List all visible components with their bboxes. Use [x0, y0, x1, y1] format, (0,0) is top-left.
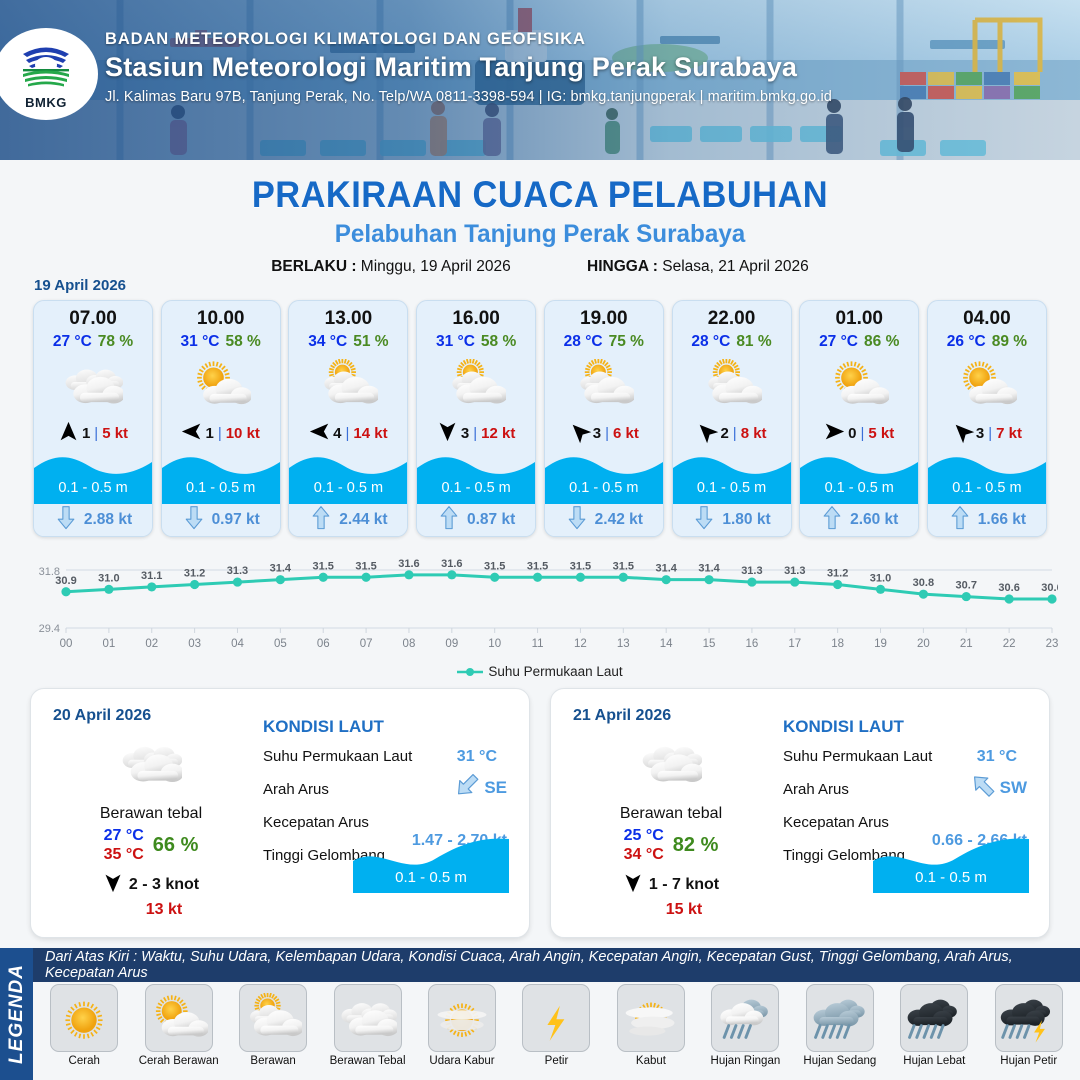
sea-key-current-dir: Arah Arus — [783, 781, 849, 798]
current-direction-text: SE — [484, 778, 507, 798]
hourly-card[interactable]: 01.00 27 °C86 % — [799, 300, 919, 537]
current-speed: 2.42 kt — [595, 511, 643, 529]
wind-gust: 7 kt — [996, 425, 1022, 442]
wind-separator: | — [473, 425, 477, 442]
weather-icon-cerah-berawan — [162, 354, 280, 416]
panel-temps: 27 °C 35 °C — [104, 827, 144, 865]
svg-text:31.4: 31.4 — [270, 563, 292, 575]
card-time: 10.00 — [162, 301, 280, 330]
sea-value-current-dir: SW — [970, 776, 1027, 800]
svg-text:08: 08 — [403, 638, 416, 650]
current-speed: 2.88 kt — [84, 511, 132, 529]
card-time: 01.00 — [800, 301, 918, 330]
svg-text:10: 10 — [488, 638, 501, 650]
svg-text:12: 12 — [574, 638, 587, 650]
legend-icon-hujan-sedang — [806, 984, 874, 1052]
wind-speed: 1 — [205, 425, 213, 442]
card-humidity: 75 % — [609, 333, 644, 350]
station-contact: Jl. Kalimas Baru 97B, Tanjung Perak, No.… — [105, 89, 832, 105]
bmkg-logo-mark — [15, 38, 77, 94]
legend-note: Dari Atas Kiri : Waktu, Suhu Udara, Kele… — [45, 949, 1080, 981]
legend-icon-kabut — [617, 984, 685, 1052]
svg-text:30.6: 30.6 — [1041, 582, 1058, 594]
panel-wind-gust: 13 kt — [77, 901, 251, 919]
svg-text:06: 06 — [317, 638, 330, 650]
current-direction-icon — [820, 509, 844, 531]
berlaku-group: BERLAKU : Minggu, 19 April 2026 — [271, 258, 511, 276]
wind-direction-icon — [824, 421, 845, 446]
sea-value-current-dir: SE — [454, 776, 507, 800]
card-temperature: 34 °C — [308, 333, 347, 350]
legend-label: Suhu Permukaan Laut — [488, 664, 622, 679]
wave-height: 0.1 - 0.5 m — [545, 480, 663, 496]
current-direction-icon — [565, 509, 589, 531]
svg-text:30.9: 30.9 — [55, 575, 76, 587]
legend-item-label: Cerah — [40, 1055, 128, 1067]
legend-icon-udara-kabur — [428, 984, 496, 1052]
wind-gust: 12 kt — [481, 425, 515, 442]
sea-row-sst: Suhu Permukaan Laut 31 °C — [783, 748, 1035, 770]
wind-separator: | — [988, 425, 992, 442]
hourly-card[interactable]: 04.00 26 °C89 % — [927, 300, 1047, 537]
card-current-row: 2.42 kt — [545, 504, 663, 536]
card-time: 13.00 — [289, 301, 407, 330]
legend-item: Berawan Tebal — [324, 984, 412, 1080]
weather-icon-berawan — [545, 354, 663, 416]
panel-humidity: 66 % — [153, 834, 199, 857]
legend-icon-petir — [522, 984, 590, 1052]
svg-text:11: 11 — [532, 638, 544, 650]
sea-row-current-speed: Kecepatan Arus 0.66 - 2.66 kt — [783, 814, 1035, 836]
card-wave-block: 0.1 - 0.5 m — [162, 450, 280, 504]
svg-text:18: 18 — [831, 638, 844, 650]
hourly-card[interactable]: 22.00 28 °C81 % — [672, 300, 792, 537]
panel-temp-min: 27 °C — [104, 827, 144, 846]
panel-temp-humidity: 27 °C 35 °C 66 % — [51, 827, 251, 865]
page-subtitle: Pelabuhan Tanjung Perak Surabaya — [16, 220, 1064, 249]
wind-speed: 3 — [593, 425, 601, 442]
legend-section: LEGENDA Dari Atas Kiri : Waktu, Suhu Uda… — [0, 948, 1080, 1080]
sst-chart-legend: Suhu Permukaan Laut — [0, 664, 1080, 679]
card-temperature: 31 °C — [436, 333, 475, 350]
legend-item-label: Hujan Sedang — [796, 1055, 884, 1067]
sea-value-sst: 31 °C — [457, 748, 497, 766]
panel-condition: Berawan tebal — [571, 805, 771, 823]
card-time: 07.00 — [34, 301, 152, 330]
card-humidity: 58 % — [226, 333, 261, 350]
card-temp-humidity: 27 °C78 % — [34, 333, 152, 351]
svg-text:03: 03 — [188, 638, 201, 650]
panel-condition: Berawan tebal — [51, 805, 251, 823]
sea-conditions-heading: KONDISI LAUT — [783, 717, 1035, 737]
sea-key-sst: Suhu Permukaan Laut — [263, 748, 412, 765]
legend-item: Petir — [512, 984, 600, 1080]
sea-value-sst: 31 °C — [977, 748, 1017, 766]
legend-item-label: Hujan Petir — [985, 1055, 1073, 1067]
svg-text:31.5: 31.5 — [313, 560, 334, 572]
wind-speed: 1 — [82, 425, 90, 442]
card-wind-row: 3 | 12 kt — [417, 416, 535, 450]
wind-separator: | — [94, 425, 98, 442]
svg-text:01: 01 — [102, 638, 115, 650]
wind-separator: | — [346, 425, 350, 442]
wind-speed: 3 — [976, 425, 984, 442]
hourly-card[interactable]: 16.00 31 °C58 % — [416, 300, 536, 537]
card-wave-block: 0.1 - 0.5 m — [545, 450, 663, 504]
svg-text:31.5: 31.5 — [527, 560, 548, 572]
wave-height: 0.1 - 0.5 m — [417, 480, 535, 496]
panel-left-summary: Berawan tebal 25 °C 34 °C 82 % 1 - 7 kno… — [571, 733, 771, 919]
legend-icon-cerah-berawan — [145, 984, 213, 1052]
wind-direction-icon — [696, 421, 717, 446]
hourly-card[interactable]: 07.00 27 °C78 % — [33, 300, 153, 537]
legend-icon-hujan-petir — [995, 984, 1063, 1052]
svg-text:31.5: 31.5 — [355, 560, 376, 572]
svg-text:31.3: 31.3 — [227, 565, 248, 577]
card-temp-humidity: 28 °C75 % — [545, 333, 663, 351]
card-wind-row: 1 | 5 kt — [34, 416, 152, 450]
panel-temp-max: 34 °C — [624, 846, 664, 865]
card-humidity: 86 % — [864, 333, 899, 350]
current-direction-icon — [309, 509, 333, 531]
weather-icon-berawan-tebal — [51, 733, 251, 793]
svg-text:13: 13 — [617, 638, 630, 650]
card-humidity: 78 % — [98, 333, 133, 350]
validity-row: BERLAKU : Minggu, 19 April 2026 HINGGA :… — [0, 258, 1080, 276]
wind-direction-icon — [181, 421, 202, 446]
weather-icon-berawan — [417, 354, 535, 416]
daily-panel[interactable]: 20 April 2026 — [30, 688, 530, 938]
current-speed: 2.60 kt — [850, 511, 898, 529]
panel-temp-humidity: 25 °C 34 °C 82 % — [571, 827, 771, 865]
wind-speed: 3 — [461, 425, 469, 442]
sea-key-sst: Suhu Permukaan Laut — [783, 748, 932, 765]
wind-speed: 0 — [848, 425, 856, 442]
sea-row-current-speed: Kecepatan Arus 1.47 - 2.70 kt — [263, 814, 515, 836]
wave-height: 0.1 - 0.5 m — [673, 480, 791, 496]
legend-item-label: Berawan — [229, 1055, 317, 1067]
weather-icon-cerah-berawan — [800, 354, 918, 416]
svg-text:20: 20 — [917, 638, 930, 650]
card-time: 04.00 — [928, 301, 1046, 330]
legend-item-label: Cerah Berawan — [135, 1055, 223, 1067]
svg-text:31.4: 31.4 — [698, 563, 720, 575]
legend-side-text: LEGENDA — [6, 964, 28, 1064]
station-name: Stasiun Meteorologi Maritim Tanjung Pera… — [105, 52, 832, 83]
card-wind-row: 3 | 6 kt — [545, 416, 663, 450]
svg-text:07: 07 — [360, 638, 373, 650]
wind-speed: 4 — [333, 425, 341, 442]
card-temperature: 28 °C — [564, 333, 603, 350]
title-section: PRAKIRAAN CUACA PELABUHAN Pelabuhan Tanj… — [0, 160, 1080, 276]
sst-chart: 31.829.400010203040506070809101112131415… — [22, 556, 1058, 661]
panel-wind-speed: 1 - 7 knot — [649, 876, 719, 894]
sea-row-current-dir: Arah Arus SW — [783, 781, 1035, 803]
card-wave-block: 0.1 - 0.5 m — [417, 450, 535, 504]
current-direction-icon — [437, 509, 461, 531]
hourly-card[interactable]: 10.00 31 °C58 % — [161, 300, 281, 537]
svg-text:29.4: 29.4 — [39, 623, 60, 635]
current-speed: 0.97 kt — [212, 511, 260, 529]
wind-direction-icon — [103, 873, 123, 898]
panel-temps: 25 °C 34 °C — [624, 827, 664, 865]
svg-text:05: 05 — [274, 638, 287, 650]
card-time: 22.00 — [673, 301, 791, 330]
bmkg-logo-text: BMKG — [25, 95, 67, 110]
svg-text:31.5: 31.5 — [484, 560, 505, 572]
card-wind-row: 1 | 10 kt — [162, 416, 280, 450]
svg-text:19: 19 — [874, 638, 887, 650]
card-temp-humidity: 26 °C89 % — [928, 333, 1046, 351]
legend-icon-list: Cerah Cerah Berawan — [33, 984, 1080, 1080]
legend-item-label: Udara Kabur — [418, 1055, 506, 1067]
svg-text:09: 09 — [445, 638, 458, 650]
hourly-card[interactable]: 13.00 34 °C51 % — [288, 300, 408, 537]
panel-humidity: 82 % — [673, 834, 719, 857]
legend-icon-cerah — [50, 984, 118, 1052]
hourly-date-label: 19 April 2026 — [34, 277, 126, 294]
card-current-row: 0.87 kt — [417, 504, 535, 536]
card-humidity: 89 % — [992, 333, 1027, 350]
panel-sea-conditions: KONDISI LAUT Suhu Permukaan Laut 31 °C A… — [783, 717, 1035, 869]
svg-text:22: 22 — [1003, 638, 1016, 650]
sea-row-sst: Suhu Permukaan Laut 31 °C — [263, 748, 515, 770]
card-temp-humidity: 28 °C81 % — [673, 333, 791, 351]
legend-icon-hujan-lebat — [900, 984, 968, 1052]
wind-separator: | — [733, 425, 737, 442]
svg-text:31.4: 31.4 — [655, 563, 677, 575]
card-wave-block: 0.1 - 0.5 m — [800, 450, 918, 504]
legend-item: Cerah — [40, 984, 128, 1080]
card-wind-row: 0 | 5 kt — [800, 416, 918, 450]
legend-item: Berawan — [229, 984, 317, 1080]
panel-temp-min: 25 °C — [624, 827, 664, 846]
legend-item-label: Hujan Ringan — [701, 1055, 789, 1067]
daily-panel[interactable]: 21 April 2026 — [550, 688, 1050, 938]
wave-height: 0.1 - 0.5 m — [928, 480, 1046, 496]
panel-wind-row: 2 - 3 knot — [51, 873, 251, 898]
svg-text:04: 04 — [231, 638, 244, 650]
svg-text:31.3: 31.3 — [741, 565, 762, 577]
card-current-row: 2.60 kt — [800, 504, 918, 536]
legend-icon-berawan — [239, 984, 307, 1052]
berlaku-label: BERLAKU : — [271, 258, 356, 275]
wave-height: 0.1 - 0.5 m — [162, 480, 280, 496]
hingga-value: Selasa, 21 April 2026 — [662, 258, 809, 275]
sea-key-current-speed: Kecepatan Arus — [263, 814, 369, 831]
sea-key-current-dir: Arah Arus — [263, 781, 329, 798]
panel-wind-row: 1 - 7 knot — [571, 873, 771, 898]
current-direction-icon — [182, 509, 206, 531]
svg-text:31.5: 31.5 — [613, 560, 634, 572]
legend-note-bar: Dari Atas Kiri : Waktu, Suhu Udara, Kele… — [33, 948, 1080, 982]
svg-text:16: 16 — [746, 638, 759, 650]
svg-text:31.3: 31.3 — [784, 565, 805, 577]
current-direction-icon — [948, 509, 972, 531]
svg-text:31.2: 31.2 — [184, 568, 205, 580]
card-temp-humidity: 34 °C51 % — [289, 333, 407, 351]
card-temp-humidity: 27 °C86 % — [800, 333, 918, 351]
wind-direction-icon — [309, 421, 330, 446]
card-current-row: 0.97 kt — [162, 504, 280, 536]
card-time: 19.00 — [545, 301, 663, 330]
weather-icon-berawan — [673, 354, 791, 416]
svg-text:31.2: 31.2 — [827, 568, 848, 580]
weather-icon-berawan — [289, 354, 407, 416]
berlaku-value: Minggu, 19 April 2026 — [361, 258, 511, 275]
svg-text:30.8: 30.8 — [913, 577, 934, 589]
hourly-card[interactable]: 19.00 28 °C75 % — [544, 300, 664, 537]
panel-date: 20 April 2026 — [53, 707, 151, 725]
wind-speed: 2 — [720, 425, 728, 442]
svg-text:31.6: 31.6 — [398, 558, 419, 570]
wave-height: 0.1 - 0.5 m — [34, 480, 152, 496]
svg-text:14: 14 — [660, 638, 673, 650]
card-humidity: 81 % — [736, 333, 771, 350]
wind-direction-icon — [623, 873, 643, 898]
card-wind-row: 4 | 14 kt — [289, 416, 407, 450]
legend-icon-berawan-tebal — [334, 984, 402, 1052]
wind-direction-icon — [58, 421, 79, 446]
legend-item: Hujan Lebat — [890, 984, 978, 1080]
sea-conditions-heading: KONDISI LAUT — [263, 717, 515, 737]
page-title: PRAKIRAAN CUACA PELABUHAN — [38, 174, 1042, 216]
legend-side-label: LEGENDA — [0, 948, 33, 1080]
panel-wave-height: 0.1 - 0.5 m — [353, 869, 509, 886]
legend-line-icon — [457, 667, 483, 677]
card-current-row: 2.88 kt — [34, 504, 152, 536]
current-speed: 1.66 kt — [978, 511, 1026, 529]
legend-item-label: Kabut — [607, 1055, 695, 1067]
card-wave-block: 0.1 - 0.5 m — [673, 450, 791, 504]
card-temperature: 28 °C — [691, 333, 730, 350]
agency-name: BADAN METEOROLOGI KLIMATOLOGI DAN GEOFIS… — [105, 30, 832, 49]
svg-text:30.7: 30.7 — [956, 580, 977, 592]
legend-item: Kabut — [607, 984, 695, 1080]
wind-gust: 5 kt — [102, 425, 128, 442]
panel-sea-conditions: KONDISI LAUT Suhu Permukaan Laut 31 °C A… — [263, 717, 515, 869]
legend-item: Hujan Ringan — [701, 984, 789, 1080]
card-wind-row: 3 | 7 kt — [928, 416, 1046, 450]
hourly-forecast-cards: 07.00 27 °C78 % — [33, 300, 1047, 537]
sea-key-current-speed: Kecepatan Arus — [783, 814, 889, 831]
svg-text:15: 15 — [703, 638, 716, 650]
wave-height: 0.1 - 0.5 m — [289, 480, 407, 496]
weather-icon-berawan-tebal — [34, 354, 152, 416]
panel-date: 21 April 2026 — [573, 707, 671, 725]
legend-item: Hujan Petir — [985, 984, 1073, 1080]
wind-direction-icon — [952, 421, 973, 446]
card-wave-block: 0.1 - 0.5 m — [928, 450, 1046, 504]
weather-icon-berawan-tebal — [571, 733, 771, 793]
legend-item-label: Berawan Tebal — [324, 1055, 412, 1067]
card-temp-humidity: 31 °C58 % — [417, 333, 535, 351]
legend-item-label: Hujan Lebat — [890, 1055, 978, 1067]
daily-forecast-panels: 20 April 2026 — [30, 688, 1050, 938]
card-current-row: 1.66 kt — [928, 504, 1046, 536]
card-temperature: 31 °C — [181, 333, 220, 350]
panel-wind-gust: 15 kt — [597, 901, 771, 919]
current-direction-icon — [454, 776, 480, 800]
wind-gust: 10 kt — [226, 425, 260, 442]
hingga-label: HINGGA : — [587, 258, 658, 275]
card-temperature: 27 °C — [53, 333, 92, 350]
panel-wind-speed: 2 - 3 knot — [129, 876, 199, 894]
current-direction-icon — [970, 776, 996, 800]
card-temp-humidity: 31 °C58 % — [162, 333, 280, 351]
current-direction-icon — [54, 509, 78, 531]
panel-temp-max: 35 °C — [104, 846, 144, 865]
weather-icon-cerah-berawan — [928, 354, 1046, 416]
wind-separator: | — [218, 425, 222, 442]
svg-text:31.1: 31.1 — [141, 570, 162, 582]
wind-separator: | — [605, 425, 609, 442]
wind-gust: 5 kt — [868, 425, 894, 442]
wind-gust: 14 kt — [353, 425, 387, 442]
legend-item-label: Petir — [512, 1055, 600, 1067]
panel-wave-block: 0.1 - 0.5 m — [353, 835, 509, 893]
svg-text:23: 23 — [1046, 638, 1058, 650]
card-humidity: 58 % — [481, 333, 516, 350]
wind-direction-icon — [437, 421, 458, 446]
card-temperature: 26 °C — [947, 333, 986, 350]
wave-height: 0.1 - 0.5 m — [800, 480, 918, 496]
current-speed: 1.80 kt — [722, 511, 770, 529]
wind-direction-icon — [569, 421, 590, 446]
card-temperature: 27 °C — [819, 333, 858, 350]
legend-item: Cerah Berawan — [135, 984, 223, 1080]
card-time: 16.00 — [417, 301, 535, 330]
card-wave-block: 0.1 - 0.5 m — [34, 450, 152, 504]
current-speed: 0.87 kt — [467, 511, 515, 529]
panel-left-summary: Berawan tebal 27 °C 35 °C 66 % 2 - 3 kno… — [51, 733, 251, 919]
wind-separator: | — [861, 425, 865, 442]
card-current-row: 2.44 kt — [289, 504, 407, 536]
card-wave-block: 0.1 - 0.5 m — [289, 450, 407, 504]
svg-text:31.0: 31.0 — [98, 572, 119, 584]
svg-text:31.5: 31.5 — [570, 560, 591, 572]
card-humidity: 51 % — [353, 333, 388, 350]
svg-text:31.6: 31.6 — [441, 558, 462, 570]
page-header: BMKG BADAN METEOROLOGI KLIMATOLOGI DAN G… — [0, 0, 1080, 160]
svg-text:02: 02 — [145, 638, 158, 650]
sst-chart-svg: 31.829.400010203040506070809101112131415… — [22, 556, 1058, 661]
panel-wave-block: 0.1 - 0.5 m — [873, 835, 1029, 893]
wind-gust: 6 kt — [613, 425, 639, 442]
svg-text:17: 17 — [788, 638, 801, 650]
svg-text:30.6: 30.6 — [998, 582, 1019, 594]
sea-row-current-dir: Arah Arus SE — [263, 781, 515, 803]
card-wind-row: 2 | 8 kt — [673, 416, 791, 450]
header-text-block: BADAN METEOROLOGI KLIMATOLOGI DAN GEOFIS… — [105, 30, 832, 105]
svg-text:21: 21 — [960, 638, 973, 650]
svg-text:31.0: 31.0 — [870, 572, 891, 584]
current-speed: 2.44 kt — [339, 511, 387, 529]
card-current-row: 1.80 kt — [673, 504, 791, 536]
legend-item: Hujan Sedang — [796, 984, 884, 1080]
legend-item: Udara Kabur — [418, 984, 506, 1080]
hingga-group: HINGGA : Selasa, 21 April 2026 — [587, 258, 809, 276]
legend-icon-hujan-ringan — [711, 984, 779, 1052]
svg-text:00: 00 — [60, 638, 73, 650]
current-direction-icon — [692, 509, 716, 531]
wind-gust: 8 kt — [741, 425, 767, 442]
current-direction-text: SW — [1000, 778, 1027, 798]
panel-wave-height: 0.1 - 0.5 m — [873, 869, 1029, 886]
